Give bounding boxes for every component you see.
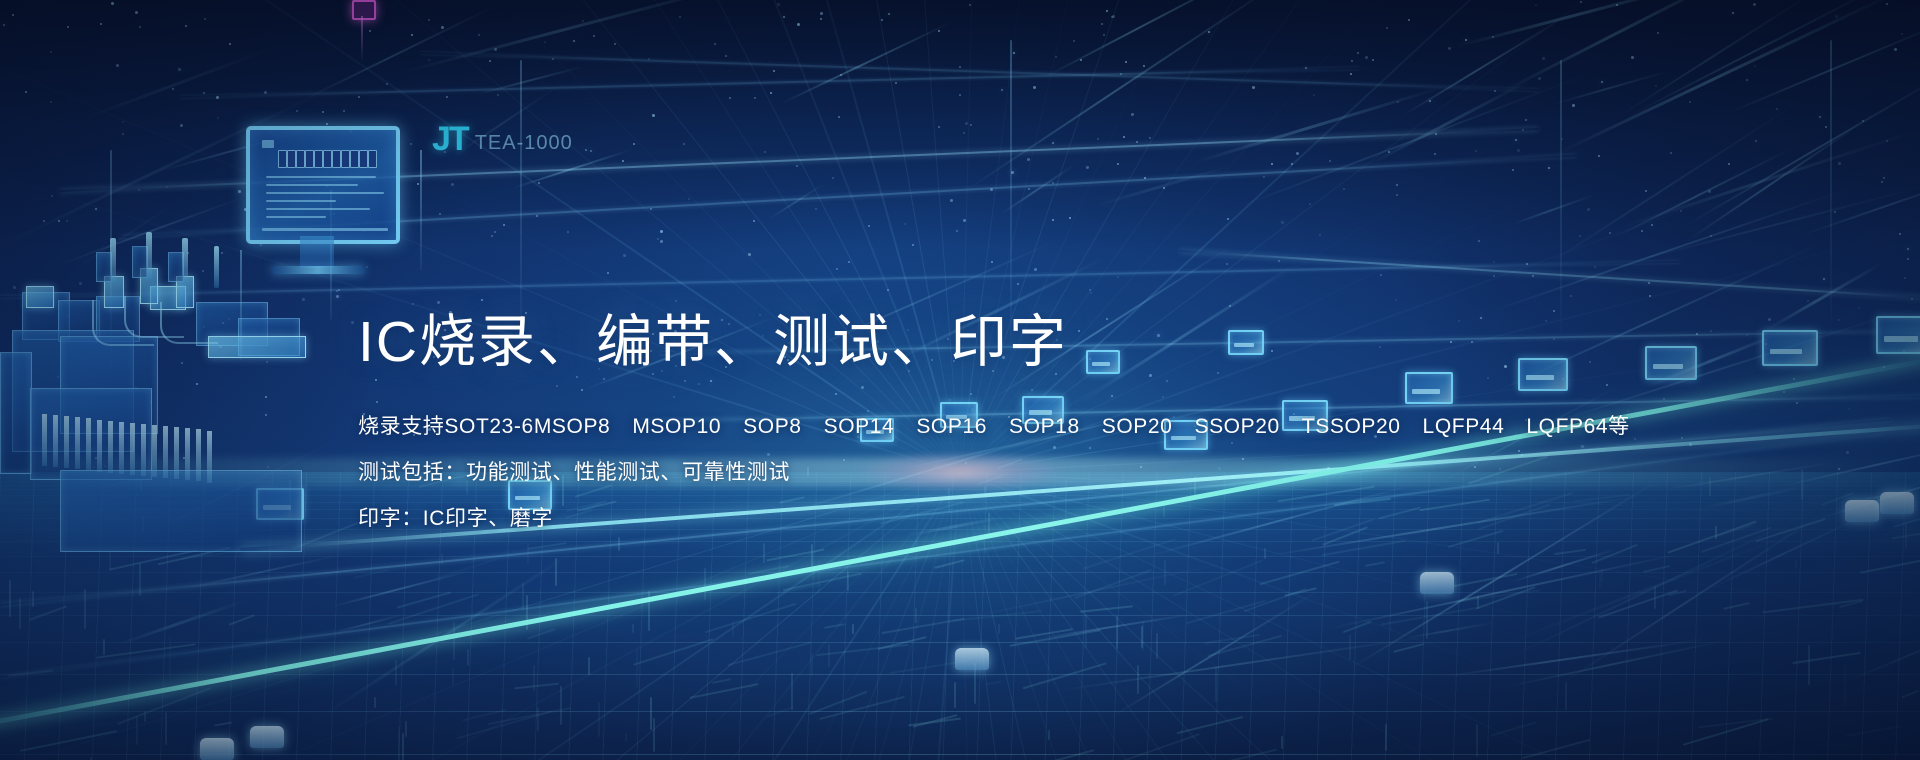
particle-dot [820, 18, 822, 20]
particle-dot [1396, 184, 1398, 186]
burn-prefix-label: 烧录支持SOT23-6 [358, 416, 534, 437]
particle-dot [959, 66, 961, 68]
particle-dot [139, 26, 141, 28]
light-streak [1620, 130, 1918, 229]
particle-dot [1649, 295, 1651, 297]
light-streak [1096, 164, 1232, 206]
banner-hero: JT TEA-1000 IC烧录、编带、测试、印字 烧录支持SOT23-6MSO… [0, 0, 1920, 760]
circuit-trace [1698, 718, 1772, 728]
light-streak [1700, 484, 1811, 510]
package-label-SOP8: SOP8 [743, 416, 801, 437]
particle-dot [1278, 260, 1280, 262]
leadframe-tooth [108, 421, 113, 473]
circuit-trace [1860, 554, 1920, 573]
particle-dot [1351, 60, 1353, 62]
light-streak [1556, 0, 1902, 155]
particle-dot [1080, 59, 1082, 61]
light-streak [1621, 0, 1815, 115]
machine-module [150, 286, 186, 310]
circuit-trace [1709, 478, 1711, 496]
circuit-trace [169, 637, 171, 677]
particle-dot [1680, 210, 1682, 212]
screen-chip-slot [278, 150, 287, 168]
particle-dot [1793, 378, 1795, 380]
light-streak [1498, 0, 1752, 95]
particle-dot [1208, 31, 1210, 33]
particle-dot [343, 110, 345, 112]
particle-dot [1670, 152, 1672, 154]
particle-dot [1835, 15, 1838, 18]
light-streak [1629, 0, 1889, 117]
circuit-trace [1177, 716, 1244, 734]
machine-module [208, 336, 306, 358]
circuit-trace [1204, 634, 1259, 644]
light-streak [1688, 121, 1865, 241]
circuit-trace [139, 563, 141, 596]
hero-copy-block: IC烧录、编带、测试、印字 烧录支持SOT23-6MSOP8MSOP10SOP8… [358, 312, 1630, 529]
support-leg [420, 150, 422, 270]
particle-dot [1319, 234, 1321, 236]
leadframe-tooth [152, 425, 157, 477]
particle-dot [1651, 224, 1653, 226]
particle-dot [172, 88, 174, 90]
machine-module [0, 352, 32, 474]
particle-dot [302, 298, 305, 301]
particle-dot [1309, 203, 1311, 205]
circuit-trace [818, 559, 820, 594]
actuator-rod [110, 238, 116, 284]
circuit-trace [1385, 724, 1387, 751]
light-streak [1001, 164, 1076, 215]
particle-dot [1090, 292, 1092, 294]
circuit-trace [1036, 749, 1094, 760]
circuit-trace [435, 558, 496, 579]
structural-pillar [1560, 60, 1562, 340]
particle-dot [1634, 438, 1636, 440]
circuit-trace [397, 591, 451, 608]
particle-dot [796, 165, 798, 167]
circuit-trace [1491, 721, 1536, 736]
spec-line-marking: 印字：IC印字、磨字 [358, 508, 1630, 529]
particle-dot [266, 361, 268, 363]
package-label-SOP20: SOP20 [1102, 416, 1173, 437]
particle-dot [1465, 39, 1467, 41]
circuit-trace [1173, 559, 1263, 596]
particle-dot [1823, 278, 1825, 280]
screen-ui-bar [266, 200, 336, 202]
light-streak [115, 599, 248, 647]
particle-dot [1515, 139, 1517, 141]
circuit-trace [144, 711, 146, 722]
particle-dot [358, 96, 360, 98]
light-streak [1709, 516, 1862, 590]
particle-dot [1609, 232, 1611, 234]
support-leg [240, 250, 242, 360]
particle-dot [1525, 119, 1527, 121]
particle-dot [1052, 182, 1054, 184]
particle-dot [1708, 190, 1711, 193]
package-label-MSOP8: MSOP8 [534, 416, 611, 437]
particle-dot [203, 326, 205, 328]
machine-module [132, 246, 148, 278]
light-streak [1513, 194, 1595, 224]
circuit-trace [103, 639, 105, 655]
circuit-trace [1901, 690, 1919, 698]
circuit-trace [452, 668, 454, 686]
particle-dot [1343, 188, 1345, 190]
structural-pillar [1830, 40, 1832, 340]
particle-dot [1904, 277, 1906, 279]
particle-dot [349, 130, 352, 133]
particle-dot [1395, 299, 1397, 301]
light-streak [319, 549, 577, 719]
structural-beam [1180, 250, 1920, 300]
circuit-trace [96, 643, 195, 658]
particle-dot [614, 43, 616, 45]
page-title: IC烧录、编带、测试、印字 [358, 312, 1630, 372]
screen-ui-bar [266, 208, 370, 210]
circuit-trace [985, 681, 1002, 685]
particle-dot [888, 13, 890, 15]
particle-dot [260, 244, 262, 246]
particle-dot [138, 189, 140, 191]
light-streak [61, 196, 244, 264]
light-streak [1045, 0, 1249, 78]
light-streak [330, 570, 471, 608]
light-streak [401, 0, 751, 74]
circuit-trace [824, 623, 845, 628]
circuit-trace [633, 638, 714, 665]
particle-dot [1580, 1, 1582, 3]
particle-dot [381, 128, 383, 130]
circuit-trace [353, 569, 389, 578]
particle-dot [166, 186, 168, 188]
light-streak [769, 183, 825, 220]
light-streak [1327, 551, 1690, 630]
particle-dot [1073, 40, 1075, 42]
particle-dot [417, 183, 419, 185]
leadframe-tooth [163, 426, 168, 478]
particle-dot [633, 143, 635, 145]
circuit-trace [1873, 495, 1888, 499]
particle-dot [369, 30, 371, 32]
particle-dot [1648, 282, 1650, 284]
particle-dot [122, 121, 124, 123]
particle-dot [1429, 100, 1431, 102]
circuit-trace [588, 657, 590, 675]
light-streak [478, 66, 584, 95]
particle-dot [1013, 52, 1015, 54]
circuit-trace [717, 570, 809, 586]
circuit-trace [1137, 665, 1139, 694]
particle-dot [536, 215, 538, 217]
circuit-trace [1080, 605, 1133, 612]
leadframe-tooth [119, 422, 124, 474]
circuit-trace [763, 543, 765, 563]
machine-module [176, 276, 194, 308]
circuit-trace [527, 628, 556, 639]
particle-dot [838, 116, 840, 118]
circuit-trace [998, 624, 1000, 634]
particle-dot [1478, 240, 1480, 242]
particle-dot [1886, 3, 1888, 5]
particle-dot [1746, 334, 1748, 336]
circuit-trace [1322, 540, 1406, 556]
particle-dot [1594, 266, 1596, 268]
particle-dot [183, 457, 185, 459]
particle-dot [135, 11, 138, 14]
particle-dot [50, 51, 52, 53]
particle-dot [848, 261, 850, 263]
circuit-trace [1116, 616, 1118, 649]
particle-dot [582, 20, 584, 22]
particle-dot [1227, 218, 1229, 220]
particle-dot [1149, 137, 1151, 139]
particle-dot [187, 252, 189, 254]
screen-chip-slot [296, 150, 305, 168]
floor-grid-line [0, 541, 1920, 542]
particle-dot [1579, 235, 1581, 237]
circuit-trace [934, 559, 964, 568]
circuit-trace [889, 660, 967, 674]
particle-dot [1848, 408, 1850, 410]
particle-dot [1131, 113, 1134, 116]
particle-dot [1561, 138, 1563, 140]
particle-dot [683, 143, 685, 145]
particle-dot [1903, 350, 1905, 352]
circuit-trace [462, 709, 507, 721]
particle-dot [1365, 56, 1368, 59]
particle-dot [1143, 65, 1145, 67]
particle-dot [1753, 3, 1756, 6]
particle-dot [185, 25, 187, 27]
circuit-trace [1284, 587, 1316, 596]
particle-dot [1226, 263, 1228, 265]
pneumatic-tube [124, 296, 184, 338]
package-label-SSOP20: SSOP20 [1194, 416, 1279, 437]
particle-dot [904, 223, 906, 225]
particle-dot [753, 220, 755, 222]
light-streak [1802, 172, 1920, 235]
particle-dot [57, 376, 59, 378]
circuit-trace [1244, 588, 1307, 612]
circuit-trace [705, 603, 796, 633]
particle-dot [1052, 219, 1054, 221]
circuit-trace [1343, 621, 1372, 633]
particle-dot [62, 327, 64, 329]
circuit-trace [1085, 614, 1087, 649]
particle-dot [238, 190, 241, 193]
light-streak [301, 5, 497, 102]
circuit-trace [974, 663, 976, 704]
pneumatic-tube [160, 302, 218, 344]
circuit-trace [1393, 643, 1423, 652]
particle-dot [593, 35, 595, 37]
circuit-trace [1186, 600, 1265, 624]
particle-dot [970, 124, 972, 126]
circuit-trace [1839, 600, 1863, 608]
light-streak [1887, 348, 1920, 499]
particle-dot [410, 143, 412, 145]
particle-dot [1825, 126, 1827, 128]
light-streak [1615, 147, 1794, 238]
particle-dot [228, 318, 230, 320]
particle-dot [244, 208, 247, 211]
particle-dot [1907, 258, 1909, 260]
circuit-trace [527, 542, 566, 549]
machine-module [96, 252, 112, 282]
circuit-trace [828, 644, 830, 667]
particle-dot [1512, 169, 1514, 171]
particle-dot [1296, 152, 1299, 155]
particle-dot [1434, 153, 1436, 155]
monitor-screen-ui [256, 136, 390, 234]
particle-dot [1883, 177, 1885, 179]
circuit-trace [1756, 518, 1826, 542]
particle-dot [322, 111, 324, 113]
screen-chip-slot [314, 150, 323, 168]
light-streak [1554, 70, 1671, 105]
particle-dot [938, 126, 940, 128]
light-streak [1683, 62, 1920, 228]
particle-dot [1380, 274, 1382, 276]
circuit-trace [1074, 569, 1152, 599]
particle-dot [336, 295, 339, 298]
particle-dot [67, 26, 69, 28]
particle-dot [1807, 300, 1809, 302]
circuit-trace [982, 648, 984, 681]
package-label-LQFP64: LQFP64等 [1526, 416, 1629, 437]
particle-dot [265, 396, 267, 398]
particle-dot [1101, 23, 1103, 25]
particle-dot [336, 290, 338, 292]
particle-dot [446, 96, 448, 98]
particle-dot [333, 213, 335, 215]
conveyor-plate [1762, 330, 1818, 366]
particle-dot [1163, 187, 1165, 189]
light-streak [1194, 86, 1445, 164]
particle-dot [607, 272, 609, 274]
particle-dot [1055, 56, 1057, 58]
circuit-trace [1082, 538, 1176, 569]
support-leg [330, 190, 332, 320]
particle-dot [363, 230, 365, 232]
circuit-trace [625, 733, 627, 742]
leadframe-tooth [141, 424, 146, 476]
leadframe-tooth [75, 417, 80, 469]
circuit-trace [1476, 724, 1478, 757]
particle-dot [585, 149, 587, 151]
circuit-trace [1114, 733, 1200, 760]
circuit-trace [650, 697, 652, 730]
particle-dot [623, 254, 626, 257]
circuit-trace [526, 595, 528, 630]
particle-dot [1681, 437, 1683, 439]
particle-dot [912, 244, 914, 246]
particle-dot [729, 97, 731, 99]
machine-module [22, 292, 70, 340]
particle-dot [481, 299, 483, 301]
machine-module [96, 296, 140, 342]
magenta-node-stem [361, 16, 363, 62]
light-streak [1496, 523, 1817, 648]
circuit-trace [811, 653, 813, 676]
screen-chip-slot [341, 150, 350, 168]
particle-dot [1663, 398, 1665, 400]
circuit-trace [1349, 635, 1351, 660]
circuit-trace [1892, 522, 1920, 539]
particle-dot [679, 16, 681, 18]
circuit-trace [533, 665, 535, 691]
circuit-trace [165, 712, 167, 745]
leadframe-tooth [97, 420, 102, 472]
particle-dot [1696, 333, 1698, 335]
circuit-trace [1048, 730, 1050, 740]
floor-grid-line [0, 674, 1920, 675]
particle-dot [100, 23, 102, 25]
actuator-rod [214, 246, 219, 288]
particle-dot [1112, 15, 1115, 18]
circuit-trace [29, 605, 67, 620]
circuit-trace [1599, 573, 1601, 588]
circuit-trace [1701, 527, 1771, 553]
actuator-rod [182, 238, 188, 284]
circuit-trace [690, 683, 759, 698]
particle-dot [895, 82, 897, 84]
particle-dot [1252, 86, 1255, 89]
particle-dot [1271, 163, 1273, 165]
particle-dot [1631, 56, 1634, 59]
circuit-trace [488, 707, 572, 725]
circuit-trace [632, 624, 634, 633]
light-streak [1441, 638, 1707, 677]
circuit-trace [1715, 526, 1717, 539]
particle-dot [1710, 235, 1712, 237]
circuit-trace [1654, 586, 1656, 609]
particle-dot [1754, 65, 1756, 67]
machine-module [60, 470, 302, 552]
particle-dot [840, 74, 842, 76]
conveyor-plate [256, 488, 304, 520]
circuit-trace [1365, 561, 1385, 566]
circuit-trace [1598, 589, 1678, 618]
particle-dot [216, 96, 219, 99]
structural-beam [420, 52, 1539, 91]
circuit-trace [1821, 492, 1854, 505]
package-label-LQFP44: LQFP44 [1423, 416, 1505, 437]
particle-dot [963, 132, 965, 134]
particle-dot [657, 238, 659, 240]
particle-dot [494, 48, 497, 51]
circuit-trace [229, 614, 255, 625]
light-streak [1840, 619, 1920, 685]
brand-logo-text: JT [432, 122, 468, 156]
particle-dot [1017, 283, 1019, 285]
leadframe-tooth [53, 415, 58, 467]
particle-dot [229, 43, 231, 45]
particle-dot [1522, 129, 1524, 131]
circuit-trace [1015, 628, 1072, 639]
particle-dot [1838, 319, 1840, 321]
particle-dot [1645, 190, 1647, 192]
particle-dot [444, 151, 446, 153]
circuit-trace [1023, 663, 1106, 689]
particle-dot [398, 208, 400, 210]
circuit-trace [1207, 635, 1282, 657]
circuit-trace [1565, 682, 1567, 710]
particle-dot [1838, 162, 1841, 165]
circuit-trace [791, 673, 793, 710]
